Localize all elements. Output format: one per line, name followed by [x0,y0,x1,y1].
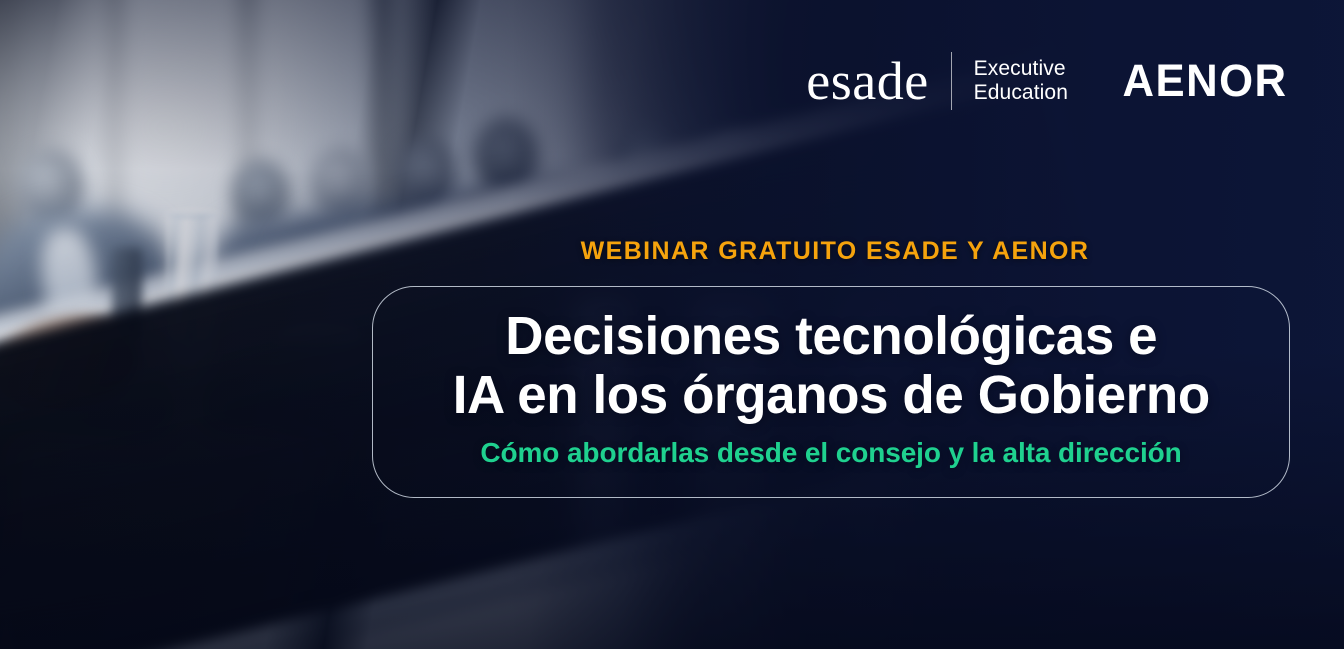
esade-tagline: Executive Education [974,57,1068,105]
webinar-promo-banner: esade Executive Education AENOR WEBINAR … [0,0,1344,649]
logo-bar: esade Executive Education AENOR [806,52,1290,110]
headline-text: Decisiones tecnológicas e IA en los órga… [452,307,1209,426]
eyebrow-text: WEBINAR GRATUITO ESADE Y AENOR [0,237,1290,266]
headline-line-2: IA en los órganos de Gobierno [452,366,1209,425]
headline-card: Decisiones tecnológicas e IA en los órga… [372,286,1290,498]
banner-content: esade Executive Education AENOR WEBINAR … [0,0,1344,649]
aenor-wordmark: AENOR [1123,55,1288,107]
esade-tagline-line2: Education [974,81,1068,104]
esade-logo-lockup: esade Executive Education [806,52,1068,110]
logo-divider-icon [951,52,952,110]
subtitle-text: Cómo abordarlas desde el consejo y la al… [480,438,1181,469]
headline-line-1: Decisiones tecnológicas e [505,306,1157,366]
esade-wordmark: esade [806,54,928,108]
esade-tagline-line1: Executive [974,57,1066,80]
